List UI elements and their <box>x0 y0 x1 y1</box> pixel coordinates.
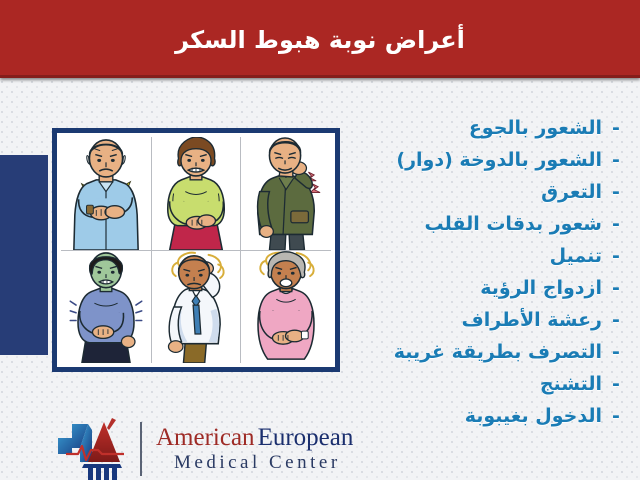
logo-line-2: Medical Center <box>174 451 341 475</box>
list-bullet: - <box>606 240 626 272</box>
list-item-label: الشعور بالجوع <box>469 112 606 144</box>
list-bullet: - <box>606 208 626 240</box>
list-item-label: شعور بدقات القلب <box>425 208 606 240</box>
list-item: - التشنج <box>226 368 626 400</box>
list-item: - التعرق <box>226 176 626 208</box>
slide-canvas: أعراض نوبة هبوط السكر <box>0 0 640 480</box>
list-item: - شعور بدقات القلب <box>226 208 626 240</box>
man-blue-shirt-chest-pain-icon <box>61 137 151 250</box>
list-item-label: ازدواج الرؤية <box>480 272 606 304</box>
logo-line-1: AmericanEuropean <box>156 424 353 451</box>
logo-word-european: European <box>258 424 354 451</box>
list-item: - التصرف بطريقة غريبة <box>226 336 626 368</box>
list-item: - رعشة الأطراف <box>226 304 626 336</box>
left-accent-block <box>0 155 48 355</box>
list-item-label: الدخول بغيبوبة <box>465 400 606 432</box>
list-item: - تنميل <box>226 240 626 272</box>
list-bullet: - <box>606 176 626 208</box>
list-bullet: - <box>606 368 626 400</box>
header-banner: أعراض نوبة هبوط السكر <box>0 0 640 78</box>
logo-word-american: American <box>156 424 255 451</box>
list-bullet: - <box>606 112 626 144</box>
illustration-cell-woman-blue-sweater-nausea <box>61 250 151 363</box>
list-bullet: - <box>606 272 626 304</box>
list-bullet: - <box>606 400 626 432</box>
list-item-label: الشعور بالدوخة (دوار) <box>396 144 606 176</box>
american-european-medical-center-logo-icon <box>58 418 132 480</box>
list-item-label: تنميل <box>550 240 606 272</box>
list-bullet: - <box>606 304 626 336</box>
logo-divider <box>140 422 142 476</box>
symptom-list: - الشعور بالجوع - الشعور بالدوخة (دوار) … <box>226 112 626 432</box>
list-item-label: التصرف بطريقة غريبة <box>394 336 606 368</box>
list-bullet: - <box>606 144 626 176</box>
list-item-label: التشنج <box>540 368 606 400</box>
list-item: - الشعور بالدوخة (دوار) <box>226 144 626 176</box>
illustration-cell-man-blue-shirt-chest-pain <box>61 137 151 250</box>
woman-blue-sweater-nausea-icon <box>61 251 151 363</box>
list-item: - الشعور بالجوع <box>226 112 626 144</box>
page-title: أعراض نوبة هبوط السكر <box>175 28 465 52</box>
list-item-label: التعرق <box>541 176 606 208</box>
list-bullet: - <box>606 336 626 368</box>
list-item-label: رعشة الأطراف <box>462 304 606 336</box>
logo-wordmark: AmericanEuropean Medical Center <box>156 424 353 475</box>
logo-block: AmericanEuropean Medical Center <box>58 418 353 480</box>
list-item: - ازدواج الرؤية <box>226 272 626 304</box>
